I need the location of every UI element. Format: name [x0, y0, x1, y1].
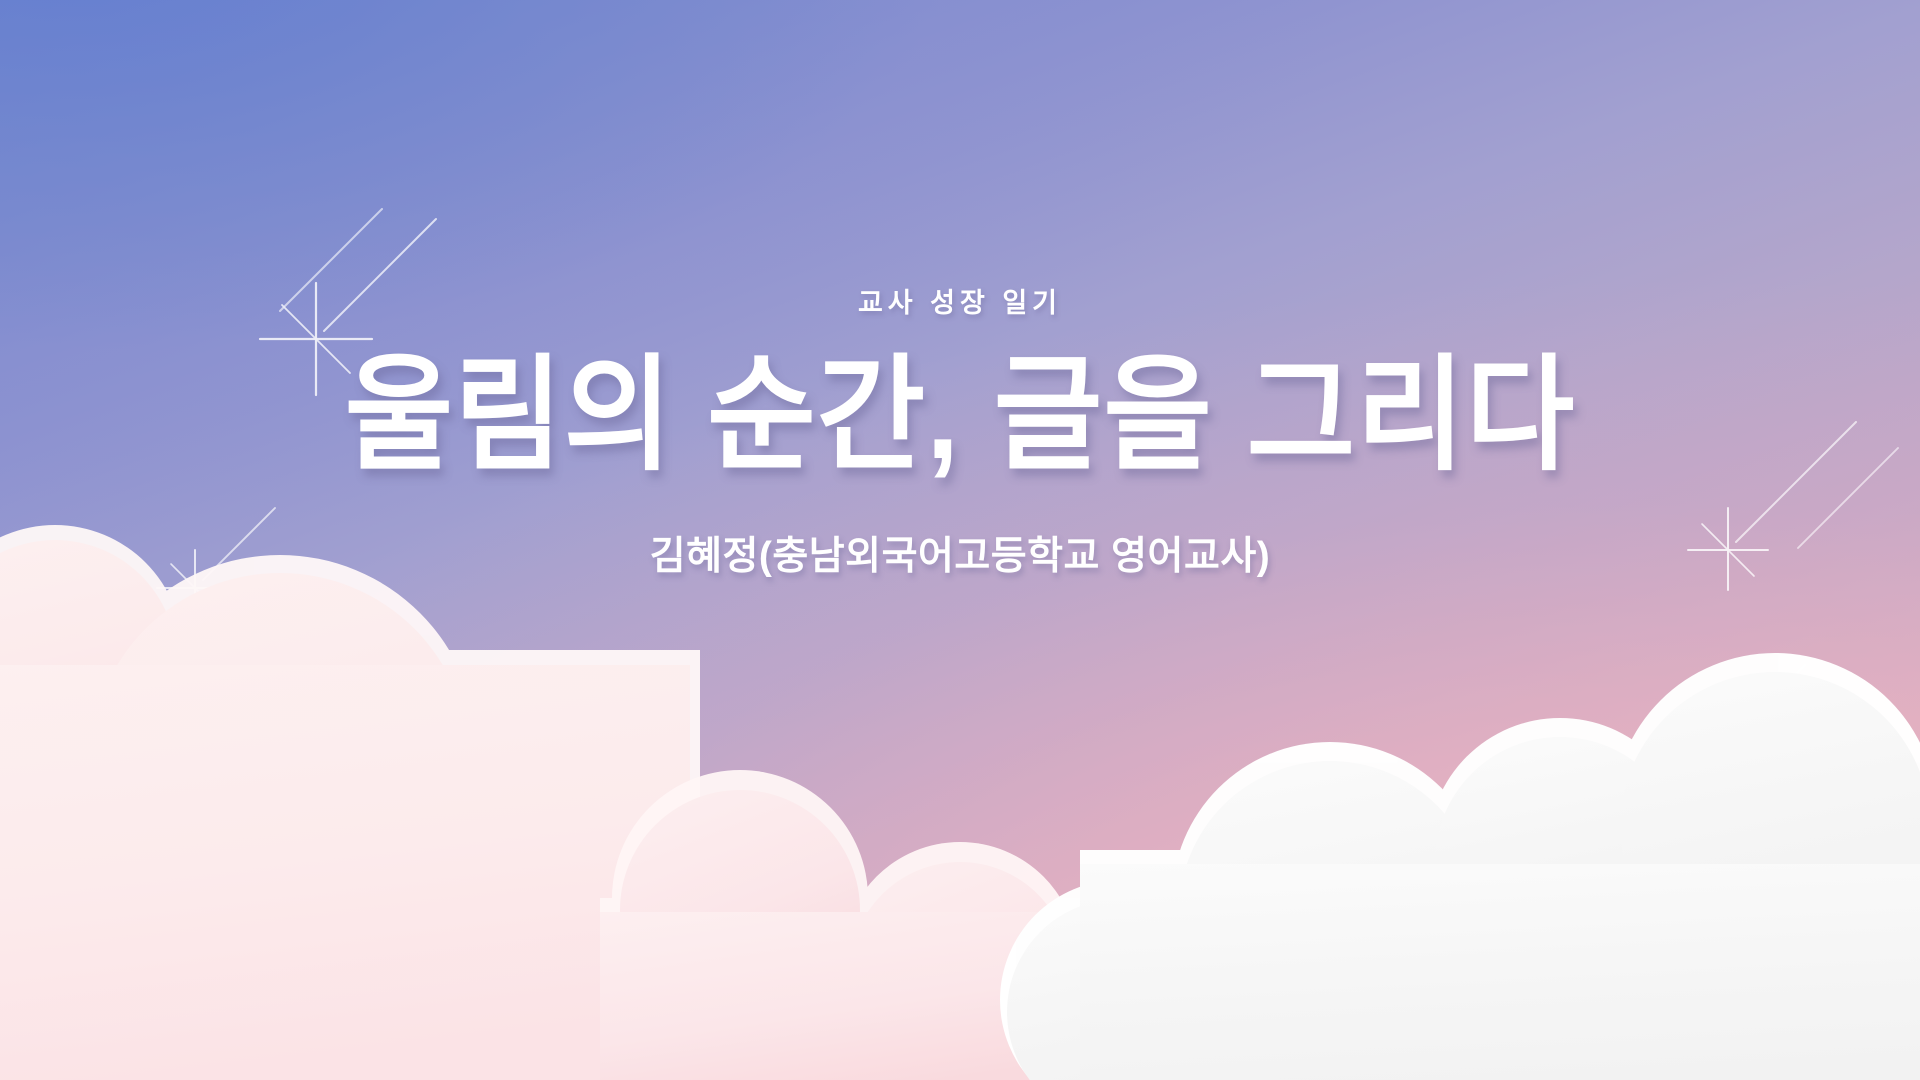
- cloud-pink-left: [0, 525, 700, 1080]
- title-slide: 교사 성장 일기 울림의 순간, 글을 그리다 김혜정(충남외국어고등학교 영어…: [0, 0, 1920, 1080]
- cloud-decoration-layer: [0, 520, 1920, 1080]
- cloud-white-right: [1000, 653, 1920, 1080]
- page-title: 울림의 순간, 글을 그리다: [0, 351, 1920, 482]
- eyebrow-label: 교사 성장 일기: [0, 290, 1920, 317]
- author-byline: 김혜정(충남외국어고등학교 영어교사): [0, 537, 1920, 576]
- title-text-block: 교사 성장 일기 울림의 순간, 글을 그리다 김혜정(충남외국어고등학교 영어…: [0, 290, 1920, 576]
